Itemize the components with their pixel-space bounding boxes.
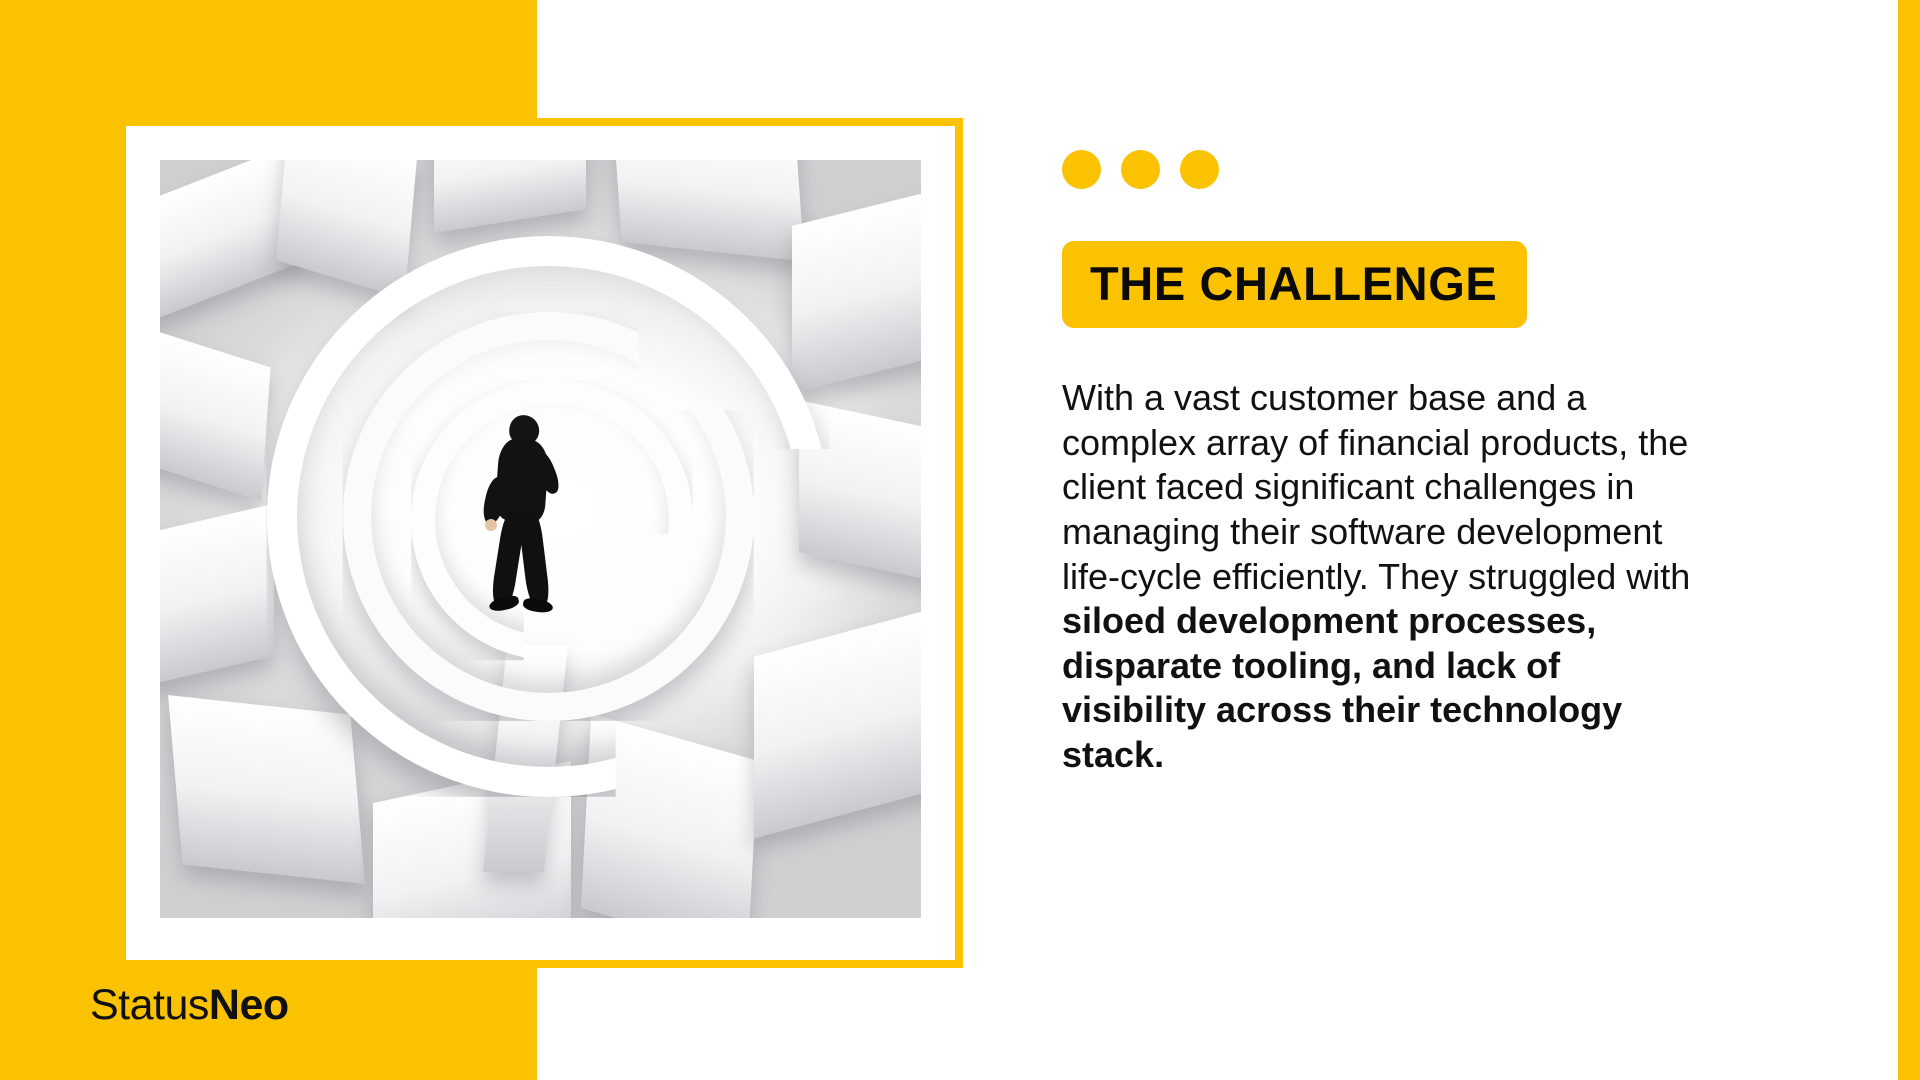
dot-icon xyxy=(1121,150,1160,189)
body-emphasis-text: siloed development processes, disparate … xyxy=(1062,600,1622,775)
content-column: THE CHALLENGE With a vast customer base … xyxy=(1062,150,1822,814)
figure-leg-right xyxy=(517,510,550,606)
decorative-dots xyxy=(1062,150,1822,189)
brand-logo: StatusNeo xyxy=(90,981,289,1030)
maze-wall xyxy=(160,504,274,696)
slide-canvas: StatusNeo THE CHALLENGE With a vast cust… xyxy=(0,0,1920,1080)
maze-illustration xyxy=(160,160,921,918)
maze-wall xyxy=(754,603,921,838)
brand-logo-light: Status xyxy=(90,981,209,1029)
maze-wall xyxy=(612,160,803,261)
maze-wall xyxy=(792,185,921,393)
maze-wall xyxy=(168,695,364,883)
maze-wall xyxy=(160,319,271,501)
photo-mat xyxy=(118,118,963,968)
maze-photo xyxy=(160,160,921,918)
body-normal-text: With a vast customer base and a complex … xyxy=(1062,377,1690,597)
heading-badge-wrap: THE CHALLENGE xyxy=(1062,241,1822,328)
maze-wall xyxy=(434,160,586,233)
figure-hand xyxy=(485,519,497,531)
maze-wall xyxy=(799,400,921,587)
section-title-badge: THE CHALLENGE xyxy=(1062,241,1527,328)
businessman-figure xyxy=(483,415,573,615)
dot-icon xyxy=(1062,150,1101,189)
maze-wall xyxy=(276,160,417,299)
figure-shoe-right xyxy=(522,596,554,614)
body-paragraph: With a vast customer base and a complex … xyxy=(1062,376,1702,778)
dot-icon xyxy=(1180,150,1219,189)
brand-logo-bold: Neo xyxy=(209,981,289,1029)
right-edge-accent-strip xyxy=(1898,0,1920,1080)
